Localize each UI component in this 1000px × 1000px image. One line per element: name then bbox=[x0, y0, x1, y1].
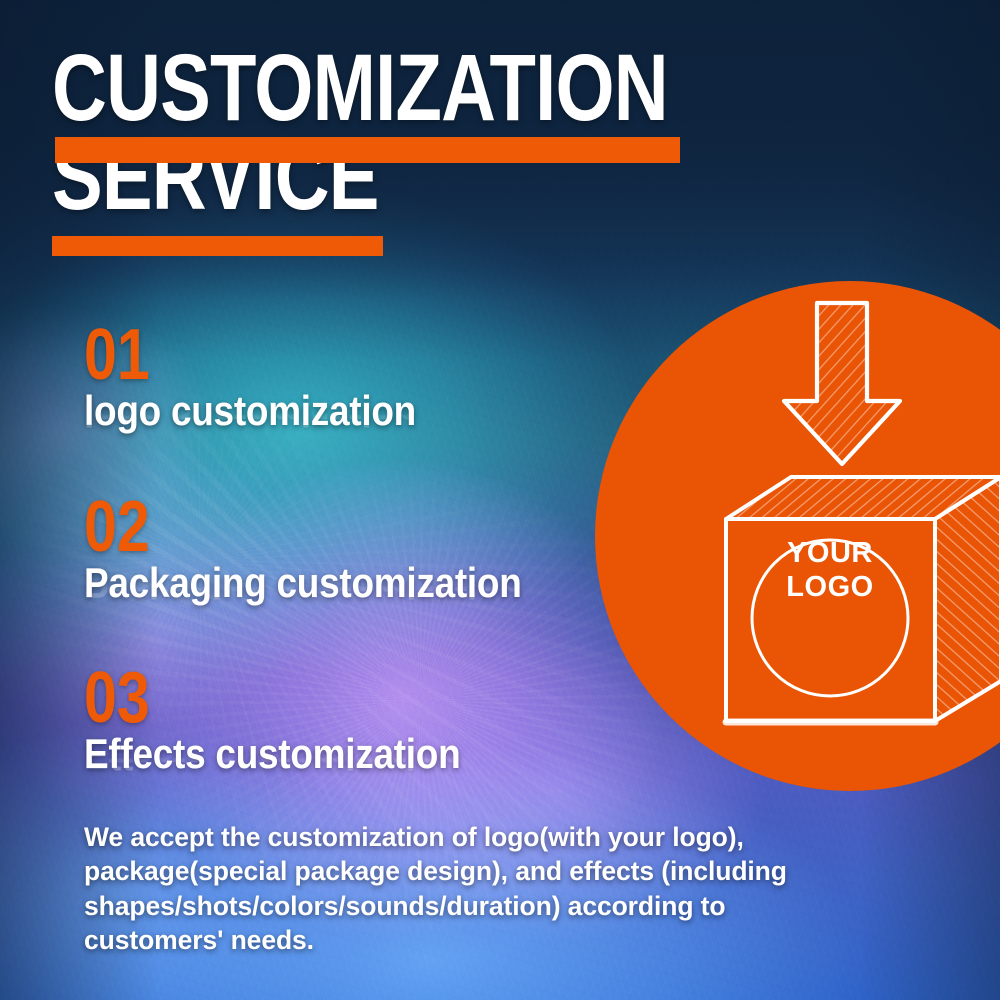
down-arrow-icon bbox=[784, 303, 900, 464]
description-line-1: We accept the customization of logo(with… bbox=[84, 820, 854, 854]
service-item-03-label-text: Effects customization bbox=[84, 730, 460, 777]
title-underline-bar-1 bbox=[55, 137, 680, 163]
title-underline-bar-2 bbox=[52, 236, 383, 256]
service-item-03: 03 Effects customization Effects customi… bbox=[84, 668, 512, 775]
description-paragraph: We accept the customization of logo(with… bbox=[84, 820, 854, 958]
service-item-02-number: 02 bbox=[84, 497, 492, 559]
service-item-02-label: Packaging customization Packaging custom… bbox=[84, 562, 522, 604]
description-line-2: package(special package design), and eff… bbox=[84, 854, 854, 888]
description-line-3: shapes/shots/colors/sounds/duration) acc… bbox=[84, 889, 854, 923]
promotional-poster: CUSTOMIZATION SERVICE 01 logo customizat… bbox=[0, 0, 1000, 1000]
page-title: CUSTOMIZATION SERVICE bbox=[52, 44, 812, 223]
service-item-01-number: 01 bbox=[84, 325, 393, 387]
orange-circle-badge: YOUR LOGO bbox=[595, 281, 1000, 791]
package-box-illustration bbox=[595, 281, 1000, 791]
logo-placeholder-circle-icon bbox=[752, 540, 908, 696]
service-item-01-label-text: logo customization bbox=[84, 387, 416, 434]
service-item-03-label: Effects customization Effects customizat… bbox=[84, 733, 460, 775]
description-line-4: customers' needs. bbox=[84, 923, 854, 957]
page-title-line-1: CUSTOMIZATION bbox=[52, 44, 660, 133]
service-item-01-label: logo customization logo customization bbox=[84, 390, 416, 432]
service-item-02-label-text: Packaging customization bbox=[84, 559, 522, 606]
service-item-02: 02 Packaging customization Packaging cus… bbox=[84, 497, 581, 604]
package-box-icon bbox=[726, 477, 1000, 722]
service-item-03-number: 03 bbox=[84, 668, 435, 730]
service-item-01: 01 logo customization logo customization bbox=[84, 325, 461, 432]
